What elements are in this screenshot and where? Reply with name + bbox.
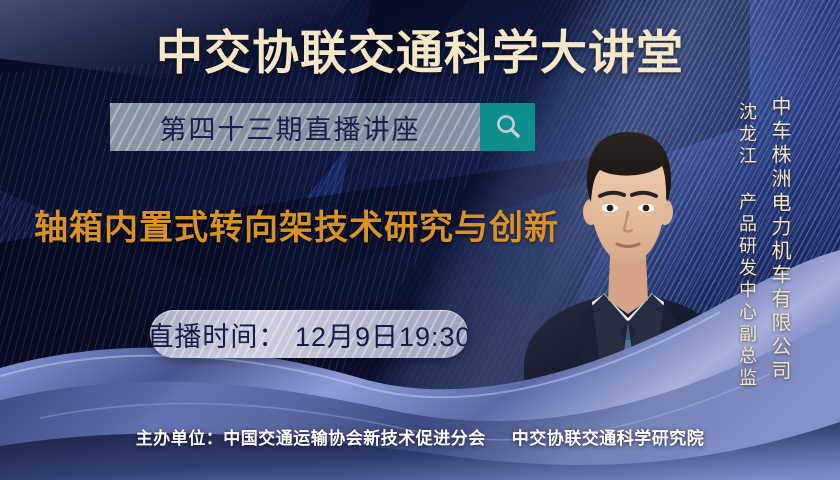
livestream-poster: 中交协联交通科学大讲堂 第四十三期直播讲座 轴箱内置式转向架技术研究与创新 直播… (0, 0, 840, 480)
speaker-company: 中车株洲电力机车有限公司 (765, 96, 794, 384)
search-icon[interactable] (480, 103, 535, 151)
episode-label: 第四十三期直播讲座 (110, 103, 480, 151)
episode-bar: 第四十三期直播讲座 (110, 103, 535, 151)
organizer-secondary: 中交协联交通科学研究院 (512, 429, 705, 448)
organizer-prefix: 主办单位： (136, 429, 224, 448)
page-title: 中交协联交通科学大讲堂 (0, 14, 840, 83)
organizer-footer: 主办单位：中国交通运输协会新技术促进分会中交协联交通科学研究院 (0, 424, 840, 449)
speaker-name-position: 沈龙江 产品研发中心副总监 (734, 102, 760, 390)
organizer-primary: 中国交通运输协会新技术促进分会 (223, 429, 486, 448)
livestream-time-text: 直播时间： 12月9日19:30 (150, 315, 468, 354)
livestream-time-badge: 直播时间： 12月9日19:30 (150, 310, 468, 358)
lecture-title: 轴箱内置式转向架技术研究与创新 (34, 200, 559, 249)
page-title-text: 中交协联交通科学大讲堂 (156, 26, 684, 79)
